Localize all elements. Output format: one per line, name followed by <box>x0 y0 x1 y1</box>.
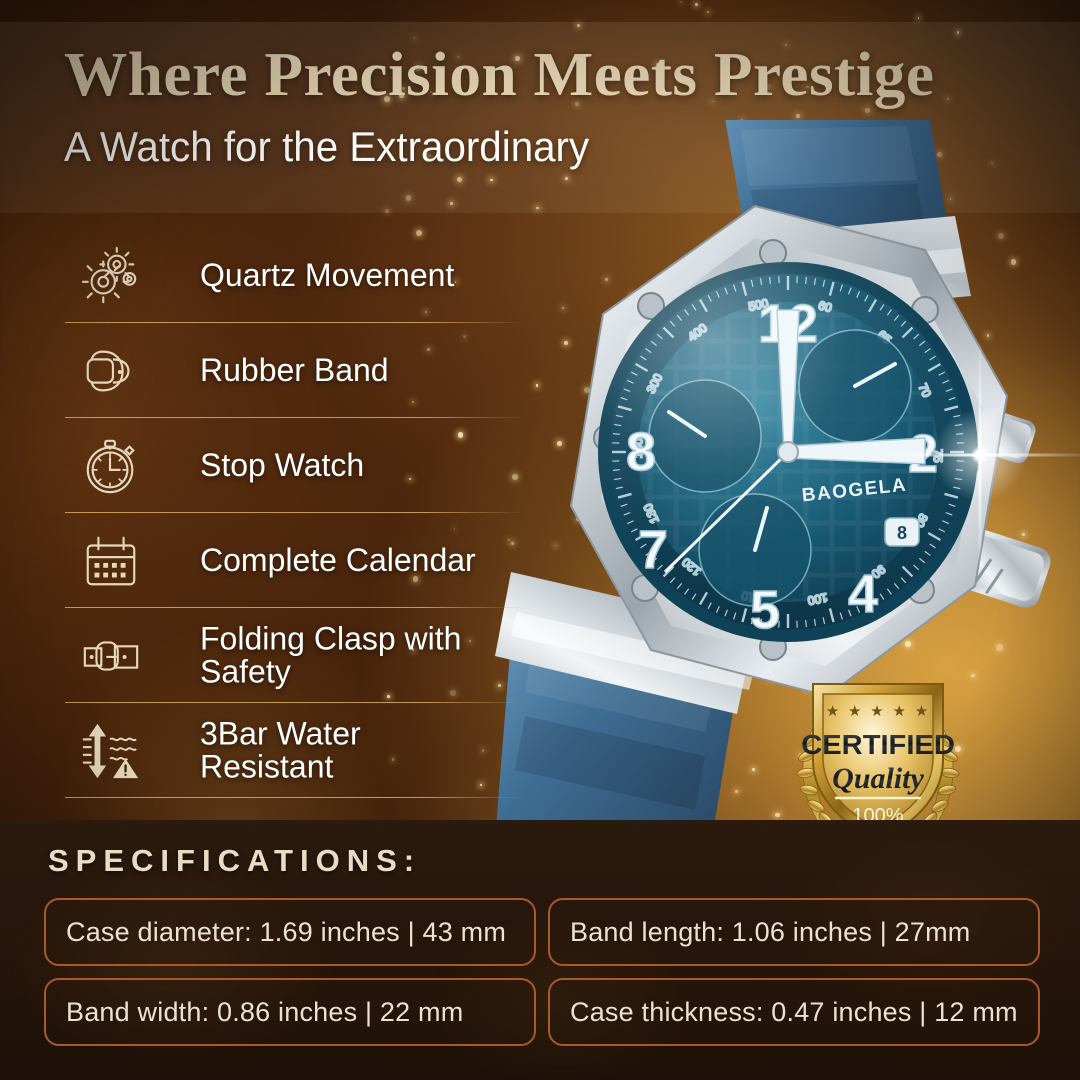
spec-box-case-diameter: Case diameter: 1.69 inches | 43 mm <box>44 898 536 966</box>
buckle-clasp-icon <box>80 625 142 687</box>
feature-label: Stop Watch <box>200 449 500 483</box>
spec-box-case-thickness: Case thickness: 0.47 inches | 12 mm <box>548 978 1040 1046</box>
watch-product-image: 606570758090100110120130150300400500 <box>455 120 1080 850</box>
specifications-heading: SPECIFICATIONS: <box>48 843 421 879</box>
feature-row-quartz-movement: Quartz Movement <box>0 228 530 323</box>
watch-band-icon <box>80 340 142 402</box>
infographic-canvas: Where Precision Meets Prestige A Watch f… <box>0 0 1080 1080</box>
feature-row-stop-watch: Stop Watch <box>0 418 530 513</box>
spec-box-band-length: Band length: 1.06 inches | 27mm <box>548 898 1040 966</box>
feature-label: Complete Calendar <box>200 544 500 578</box>
stopwatch-icon <box>80 435 142 497</box>
calendar-icon <box>80 530 142 592</box>
watch-dial: 606570758090100110120130150300400500 <box>598 262 978 642</box>
feature-row-folding-clasp: Folding Clasp with Safety <box>0 608 530 703</box>
badge-certified-text: CERTIFIED <box>801 729 955 760</box>
feature-label: 3Bar Water Resistant <box>200 717 500 784</box>
water-resistant-icon <box>80 720 142 782</box>
badge-stars: ★ ★ ★ ★ ★ <box>826 702 930 720</box>
page-title: Where Precision Meets Prestige <box>64 44 1064 106</box>
feature-row-complete-calendar: Complete Calendar <box>0 513 530 608</box>
feature-label: Folding Clasp with Safety <box>200 622 500 689</box>
feature-label: Rubber Band <box>200 354 500 388</box>
feature-divider <box>65 797 525 798</box>
feature-label: Quartz Movement <box>200 259 500 293</box>
feature-list: Quartz Movement Rubber Band <box>0 228 530 798</box>
badge-quality-text: Quality <box>832 762 924 795</box>
feature-row-water-resistant: 3Bar Water Resistant <box>0 703 530 798</box>
feature-row-rubber-band: Rubber Band <box>0 323 530 418</box>
gears-icon <box>80 245 142 307</box>
specifications-grid: Case diameter: 1.69 inches | 43 mm Band … <box>44 898 1040 1046</box>
watch-illustration: 606570758090100110120130150300400500 <box>455 120 1080 850</box>
spec-box-band-width: Band width: 0.86 inches | 22 mm <box>44 978 536 1046</box>
